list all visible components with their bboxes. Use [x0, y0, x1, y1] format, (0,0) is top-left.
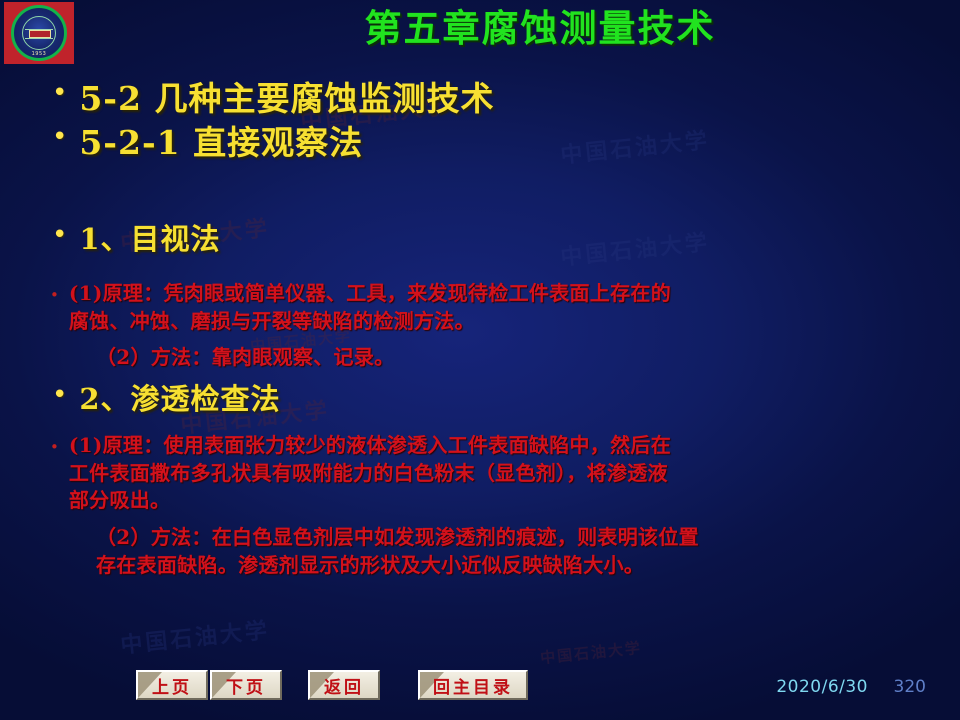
bullet-icon: •	[52, 382, 67, 408]
main-menu-label: 回主目录	[433, 673, 513, 698]
bullet-item-2-heading: • 2、渗透检查法	[52, 382, 281, 416]
bullet-section-52: • 5-2 几种主要腐蚀监测技术	[52, 80, 494, 119]
slide-footer: 上页 下页 返回 回主目录 2020/6/30 320	[0, 664, 960, 720]
item-1-method-text: （2）方法：靠肉眼观察、记录。	[96, 344, 394, 372]
item-2-method-text: （2）方法：在白色显色剂层中如发现渗透剂的痕迹，则表明该位置 存在表面缺陷。渗透…	[96, 524, 699, 579]
item-2-heading-label: 2、渗透检查法	[79, 382, 280, 416]
main-menu-button[interactable]: 回主目录	[418, 670, 528, 700]
item-1-heading-label: 1、目视法	[79, 222, 220, 256]
next-page-label: 下页	[226, 673, 266, 698]
bullet-icon: •	[50, 288, 59, 303]
logo-badge-icon	[29, 30, 51, 38]
item-2-principle-block: • (1)原理：使用表面张力较少的液体渗透入工件表面缺陷中，然后在 工件表面撒布…	[50, 432, 671, 515]
item-1-principle-line1: (1)原理：凭肉眼或简单仪器、工具，来发现待检工件表面上存在的	[69, 280, 671, 308]
footer-page-number: 320	[894, 677, 926, 697]
bullet-icon: •	[52, 80, 67, 106]
bullet-section-521: • 5-2-1 直接观察法	[52, 124, 363, 163]
item-1-principle-block: • (1)原理：凭肉眼或简单仪器、工具，来发现待检工件表面上存在的 腐蚀、冲蚀、…	[50, 280, 671, 335]
bullet-icon: •	[52, 124, 67, 150]
footer-date: 2020/6/30	[776, 677, 868, 697]
item-1-principle-text: (1)原理：凭肉眼或简单仪器、工具，来发现待检工件表面上存在的 腐蚀、冲蚀、磨损…	[69, 280, 671, 335]
item-2-principle-line2: 工件表面撒布多孔状具有吸附能力的白色粉末（显色剂），将渗透液	[69, 460, 671, 488]
slide-header: 1953 第五章腐蚀测量技术	[0, 0, 960, 66]
next-page-button[interactable]: 下页	[210, 670, 282, 700]
item-2-principle-text: (1)原理：使用表面张力较少的液体渗透入工件表面缺陷中，然后在 工件表面撒布多孔…	[69, 432, 671, 515]
item-1-method-block: （2）方法：靠肉眼观察、记录。	[96, 344, 394, 372]
item-2-method-block: （2）方法：在白色显色剂层中如发现渗透剂的痕迹，则表明该位置 存在表面缺陷。渗透…	[96, 524, 699, 579]
prev-page-label: 上页	[152, 673, 192, 698]
item-1-principle-line2: 腐蚀、冲蚀、磨损与开裂等缺陷的检测方法。	[69, 308, 671, 336]
logo-year: 1953	[14, 51, 64, 57]
back-button[interactable]: 返回	[308, 670, 380, 700]
prev-page-button[interactable]: 上页	[136, 670, 208, 700]
section-52-label: 5-2 几种主要腐蚀监测技术	[79, 80, 494, 119]
section-521-label: 5-2-1 直接观察法	[79, 124, 363, 163]
item-2-method-line2: 存在表面缺陷。渗透剂显示的形状及大小近似反映缺陷大小。	[96, 552, 699, 580]
slide-content: • 5-2 几种主要腐蚀监测技术 • 5-2-1 直接观察法 • 1、目视法 •…	[0, 72, 960, 672]
item-2-principle-line3: 部分吸出。	[69, 487, 671, 515]
presentation-slide: 中国石油大学 中国石油大学 中国石油大学 中国石油大学 中国石油大学 中国石油大…	[0, 0, 960, 720]
logo-globe-icon	[22, 16, 56, 50]
item-2-principle-line1: (1)原理：使用表面张力较少的液体渗透入工件表面缺陷中，然后在	[69, 432, 671, 460]
bullet-icon: •	[50, 440, 59, 455]
university-logo: 1953	[4, 2, 74, 64]
logo-ring-icon: 1953	[11, 5, 67, 61]
bullet-icon: •	[52, 222, 67, 248]
bullet-item-1-heading: • 1、目视法	[52, 222, 221, 256]
item-2-method-line1: （2）方法：在白色显色剂层中如发现渗透剂的痕迹，则表明该位置	[96, 524, 699, 552]
page-title: 第五章腐蚀测量技术	[230, 6, 850, 52]
back-label: 返回	[324, 673, 364, 698]
